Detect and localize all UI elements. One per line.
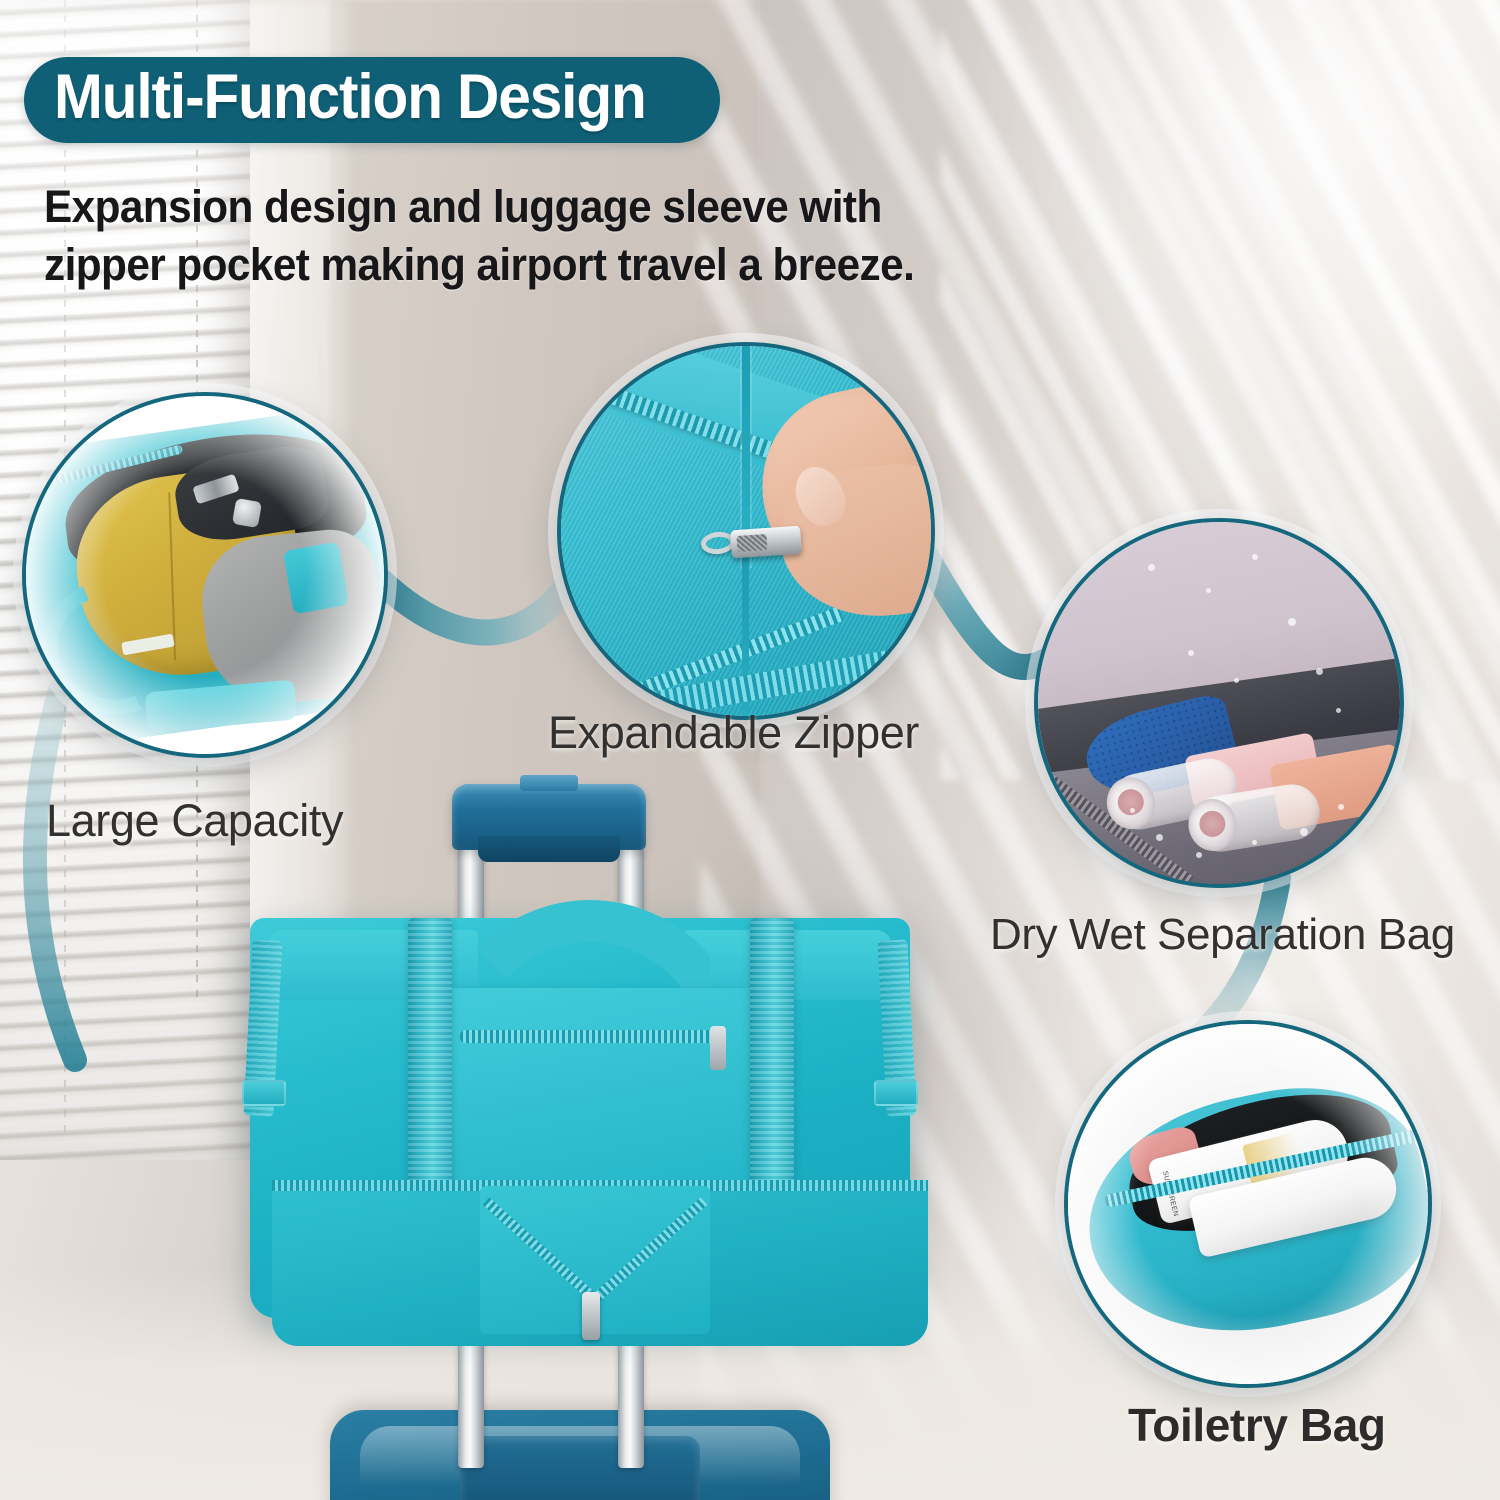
subtitle: Expansion design and luggage sleeve with…	[44, 178, 984, 293]
label-toiletry-bag: Toiletry Bag	[1128, 1398, 1386, 1452]
expandable-zipper-photo	[561, 346, 931, 716]
suitcase-top-handle	[460, 1436, 700, 1500]
shoe-pocket-zipper-left	[483, 1197, 601, 1305]
subtitle-line-2: zipper pocket making airport travel a br…	[44, 236, 984, 294]
suitcase	[330, 1410, 830, 1500]
sleeve-zipper	[460, 1030, 722, 1043]
large-capacity-photo	[26, 396, 384, 754]
callout-large-capacity[interactable]	[22, 392, 388, 758]
page-title-badge: Multi-Function Design	[24, 57, 720, 143]
duffel-body	[250, 918, 910, 1318]
sleeve-zipper-pull	[710, 1026, 726, 1070]
subtitle-line-1: Expansion design and luggage sleeve with	[44, 181, 882, 232]
duffel-bag	[230, 894, 930, 1414]
toiletry-bag-photo: SUNSCREEN	[1068, 1024, 1428, 1384]
main-product-photo	[230, 770, 930, 1500]
luggage-sleeve-pocket	[428, 988, 758, 1188]
zipper-slider	[730, 526, 802, 559]
shoe-pocket-zipper-pull	[582, 1292, 600, 1340]
duffel-strap-left	[408, 918, 452, 1218]
callout-toiletry-bag[interactable]: SUNSCREEN	[1064, 1020, 1432, 1388]
dry-wet-photo	[1038, 522, 1400, 884]
duffel-strap-right	[750, 918, 794, 1218]
duffel-side-buckle-right	[874, 1080, 918, 1106]
callout-dry-wet-separation[interactable]	[1034, 518, 1404, 888]
shoe-pocket-zipper-right	[589, 1197, 707, 1305]
duffel-side-buckle-left	[242, 1080, 286, 1106]
label-dry-wet-separation: Dry Wet Separation Bag	[990, 910, 1455, 960]
label-expandable-zipper: Expandable Zipper	[548, 707, 919, 759]
callout-expandable-zipper[interactable]	[557, 342, 935, 720]
tote-handle-right	[283, 542, 349, 615]
infographic-canvas: Multi-Function Design Expansion design a…	[0, 0, 1500, 1500]
trolley-handle-neck	[478, 836, 620, 862]
page-title: Multi-Function Design	[54, 66, 646, 129]
duffel-shoe-pocket	[480, 1186, 710, 1334]
metal-accessory-secondary	[232, 498, 262, 528]
